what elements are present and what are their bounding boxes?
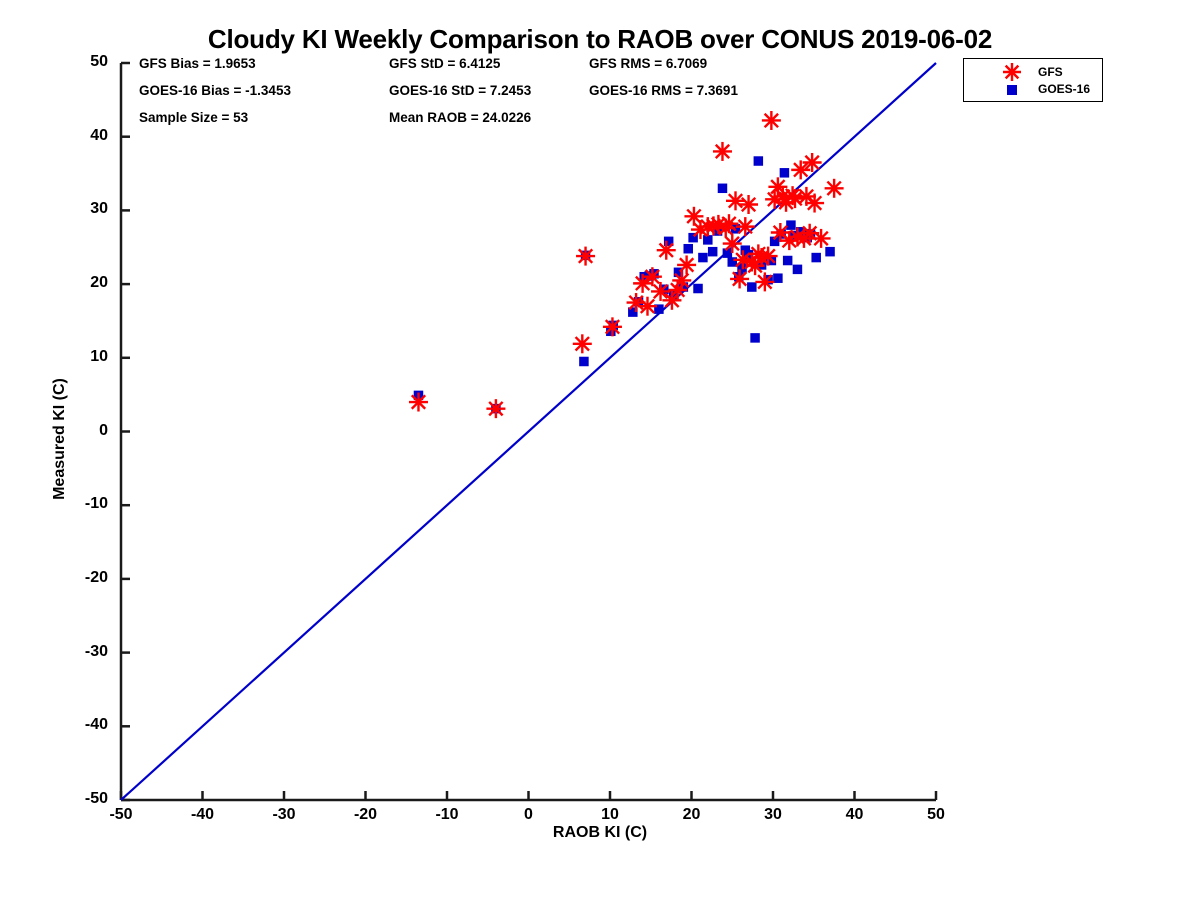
- legend-asterisk-icon: [1003, 63, 1021, 81]
- y-tick-label: 20: [48, 274, 108, 292]
- series-gfs-markers: [409, 111, 844, 418]
- data-point-gfs: [603, 317, 622, 336]
- data-point-goes16: [683, 244, 693, 254]
- x-tick-label: 40: [825, 806, 885, 824]
- y-tick-label: 40: [48, 127, 108, 145]
- data-point-gfs: [736, 217, 755, 236]
- chart-legend[interactable]: GFS GOES-16: [963, 58, 1103, 102]
- data-point-gfs: [643, 267, 662, 286]
- data-point-gfs: [812, 229, 831, 248]
- x-tick-label: -50: [91, 806, 151, 824]
- x-tick-label: 0: [499, 806, 559, 824]
- data-point-gfs: [759, 247, 778, 266]
- data-point-gfs: [486, 399, 505, 418]
- data-point-goes16: [693, 284, 703, 294]
- y-axis-title: Measured KI (C): [51, 339, 69, 539]
- y-tick-label: 30: [48, 200, 108, 218]
- data-point-goes16: [703, 235, 713, 245]
- data-point-goes16: [754, 156, 764, 166]
- data-point-goes16: [750, 333, 760, 343]
- legend-square-icon: [1007, 85, 1017, 95]
- x-tick-label: 50: [906, 806, 966, 824]
- x-tick-label: 30: [743, 806, 803, 824]
- data-point-goes16: [811, 253, 821, 263]
- one-to-one-reference-line: [121, 63, 936, 800]
- y-tick-label: -30: [48, 643, 108, 661]
- data-point-goes16: [780, 168, 790, 178]
- data-point-gfs: [719, 214, 738, 233]
- y-tick-label: -40: [48, 716, 108, 734]
- y-tick-label: 50: [48, 53, 108, 71]
- legend-label-gfs: GFS: [1038, 65, 1063, 79]
- legend-markers: [964, 59, 1104, 103]
- data-point-gfs: [573, 334, 592, 353]
- x-tick-label: -40: [173, 806, 233, 824]
- data-point-gfs: [657, 241, 676, 260]
- x-tick-label: -10: [417, 806, 477, 824]
- data-point-goes16: [718, 184, 728, 194]
- x-tick-label: 10: [580, 806, 640, 824]
- data-point-gfs: [755, 272, 774, 291]
- data-point-gfs: [576, 247, 595, 266]
- data-point-gfs: [730, 269, 749, 288]
- data-point-goes16: [708, 247, 718, 257]
- data-point-gfs: [805, 194, 824, 213]
- data-point-gfs: [638, 297, 657, 316]
- data-point-goes16: [786, 220, 796, 230]
- data-point-gfs: [651, 282, 670, 301]
- data-point-goes16: [579, 357, 589, 367]
- data-point-gfs: [723, 234, 742, 253]
- x-tick-label: -30: [254, 806, 314, 824]
- data-point-gfs: [677, 255, 696, 274]
- y-tick-label: -20: [48, 569, 108, 587]
- reference-line-1to1: [121, 63, 936, 800]
- data-point-goes16: [825, 247, 835, 257]
- data-point-gfs: [713, 142, 732, 161]
- data-point-goes16: [747, 282, 757, 292]
- data-point-goes16: [783, 256, 793, 265]
- data-point-gfs: [762, 111, 781, 130]
- data-point-gfs: [672, 271, 691, 290]
- y-tick-label: -50: [48, 790, 108, 808]
- data-point-gfs: [739, 195, 758, 214]
- chart-figure: Cloudy KI Weekly Comparison to RAOB over…: [0, 0, 1200, 900]
- x-tick-label: -20: [336, 806, 396, 824]
- x-axis-title: RAOB KI (C): [0, 824, 1200, 842]
- plot-area: [0, 0, 1200, 900]
- data-point-gfs: [726, 191, 745, 210]
- data-point-gfs: [409, 393, 428, 412]
- data-point-gfs: [825, 179, 844, 198]
- x-tick-label: 20: [662, 806, 722, 824]
- data-point-goes16: [773, 273, 783, 283]
- data-point-goes16: [793, 265, 803, 275]
- data-point-gfs: [803, 153, 822, 172]
- legend-label-goes16: GOES-16: [1038, 82, 1090, 96]
- data-point-goes16: [698, 253, 708, 263]
